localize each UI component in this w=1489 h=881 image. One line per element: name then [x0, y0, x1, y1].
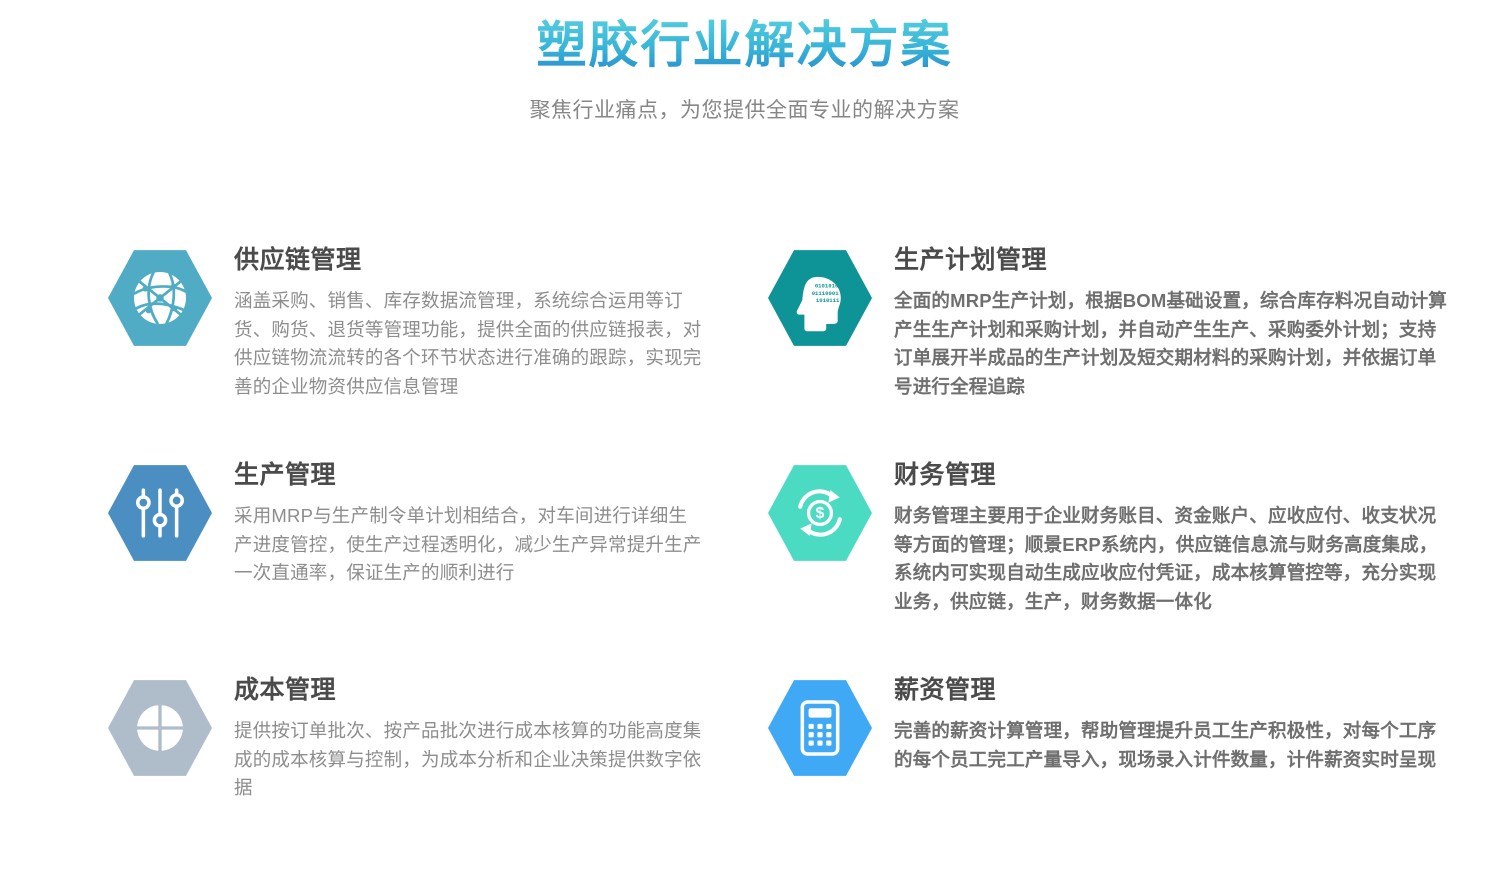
svg-text:$: $: [816, 505, 825, 522]
card-description: 采用MRP与生产制令单计划相结合，对车间进行详细生产进度管控，使生产过程透明化，…: [234, 502, 704, 588]
card-title: 成本管理: [234, 675, 704, 705]
hex-badge-cost: [108, 676, 212, 780]
card-title: 薪资管理: [894, 675, 1454, 705]
currency-refresh-icon: $: [768, 461, 872, 565]
feature-card-supply-chain[interactable]: 供应链管理 涵盖采购、销售、库存数据流管理，系统综合运用等订货、购货、退货等管理…: [108, 236, 768, 451]
feature-card-production[interactable]: 生产管理 采用MRP与生产制令单计划相结合，对车间进行详细生产进度管控，使生产过…: [108, 451, 768, 666]
svg-text:01110001: 01110001: [812, 290, 840, 297]
card-title: 生产管理: [234, 460, 704, 490]
sliders-equalizer-icon: [108, 461, 212, 565]
page-subtitle: 聚焦行业痛点，为您提供全面专业的解决方案: [0, 96, 1489, 126]
hex-badge-supply-chain: [108, 246, 212, 350]
brain-binary-head-icon: 0101010 01110001 1010111: [768, 246, 872, 350]
hex-badge-payroll: [768, 676, 872, 780]
page-header: 塑胶行业解决方案 聚焦行业痛点，为您提供全面专业的解决方案: [0, 0, 1489, 126]
solutions-page: 塑胶行业解决方案 聚焦行业痛点，为您提供全面专业的解决方案: [0, 0, 1489, 836]
card-description: 财务管理主要用于企业财务账目、资金账户、应收应付、收支状况等方面的管理；顺景ER…: [894, 502, 1454, 616]
calculator-icon: [768, 676, 872, 780]
svg-text:1010111: 1010111: [816, 297, 840, 304]
network-globe-icon: [108, 246, 212, 350]
feature-card-production-plan[interactable]: 0101010 01110001 1010111 生产计划管理 全面的MRP生产…: [768, 236, 1489, 451]
hex-badge-production-plan: 0101010 01110001 1010111: [768, 246, 872, 350]
card-description: 提供按订单批次、按产品批次进行成本核算的功能高度集成的成本核算与控制，为成本分析…: [234, 717, 704, 803]
card-title: 供应链管理: [234, 245, 704, 275]
feature-card-grid: 供应链管理 涵盖采购、销售、库存数据流管理，系统综合运用等订货、购货、退货等管理…: [0, 236, 1489, 881]
page-title: 塑胶行业解决方案: [0, 12, 1489, 78]
card-text-production-plan: 生产计划管理 全面的MRP生产计划，根据BOM基础设置，综合库存料况自动计算产生…: [894, 236, 1454, 401]
card-text-production: 生产管理 采用MRP与生产制令单计划相结合，对车间进行详细生产进度管控，使生产过…: [234, 451, 704, 588]
feature-card-cost[interactable]: 成本管理 提供按订单批次、按产品批次进行成本核算的功能高度集成的成本核算与控制，…: [108, 666, 768, 881]
card-text-payroll: 薪资管理 完善的薪资计算管理，帮助管理提升员工生产积极性，对每个工序的每个员工完…: [894, 666, 1454, 774]
feature-card-finance[interactable]: $ 财务管理 财务管理主要用于企业财务账目、资金账户、应收应付、收支状况等方面的…: [768, 451, 1489, 666]
svg-text:0101010: 0101010: [815, 283, 839, 290]
card-text-cost: 成本管理 提供按订单批次、按产品批次进行成本核算的功能高度集成的成本核算与控制，…: [234, 666, 704, 803]
feature-card-payroll[interactable]: 薪资管理 完善的薪资计算管理，帮助管理提升员工生产积极性，对每个工序的每个员工完…: [768, 666, 1489, 881]
pie-chart-icon: [108, 676, 212, 780]
hex-badge-finance: $: [768, 461, 872, 565]
card-description: 涵盖采购、销售、库存数据流管理，系统综合运用等订货、购货、退货等管理功能，提供全…: [234, 287, 704, 401]
card-text-finance: 财务管理 财务管理主要用于企业财务账目、资金账户、应收应付、收支状况等方面的管理…: [894, 451, 1454, 616]
card-title: 财务管理: [894, 460, 1454, 490]
card-title: 生产计划管理: [894, 245, 1454, 275]
card-description: 全面的MRP生产计划，根据BOM基础设置，综合库存料况自动计算产生生产计划和采购…: [894, 287, 1454, 401]
card-text-supply-chain: 供应链管理 涵盖采购、销售、库存数据流管理，系统综合运用等订货、购货、退货等管理…: [234, 236, 704, 401]
hex-badge-production: [108, 461, 212, 565]
card-description: 完善的薪资计算管理，帮助管理提升员工生产积极性，对每个工序的每个员工完工产量导入…: [894, 717, 1454, 774]
